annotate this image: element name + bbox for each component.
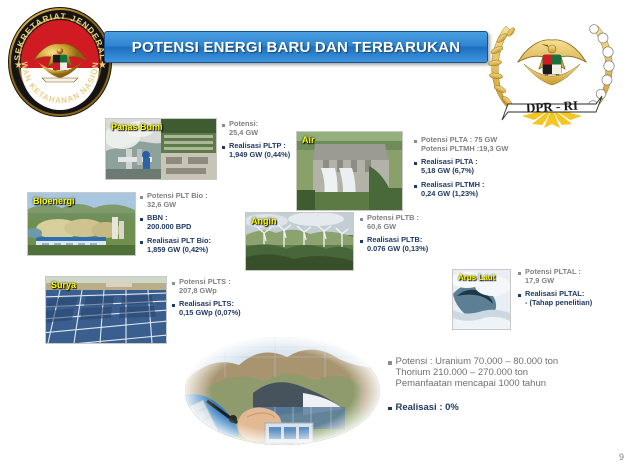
bullet-text: Potensi PLT Bio : 32,6 GW xyxy=(147,192,208,209)
bullet-item: Potensi PLTAL : 17,9 GW xyxy=(518,268,626,285)
photo-caption-panas-bumi: Panas Bumi xyxy=(111,122,163,132)
photo-caption-surya: Surya xyxy=(51,280,76,290)
photo-surya: Surya xyxy=(45,276,167,344)
bullet-marker-icon xyxy=(360,218,363,221)
paddy-wreath-icon xyxy=(488,26,516,112)
bullet-marker-icon xyxy=(222,124,225,127)
bullet-item: Potensi PLTS : 207,8 GWp xyxy=(172,278,272,295)
text-block-surya: Potensi PLTS : 207,8 GWp Realisasi PLTS:… xyxy=(172,278,272,323)
photo-angin: Angin xyxy=(245,212,354,271)
bullet-marker-icon xyxy=(222,146,225,149)
bullet-item: Potensi PLTB : 60,6 GW xyxy=(360,214,460,231)
bullet-marker-icon xyxy=(140,196,143,199)
dpr-ri-logo: DPR - RI xyxy=(474,8,630,132)
bullet-text: Realisasi PLTB: 0.076 GW (0,13%) xyxy=(367,236,428,253)
bullet-marker-icon xyxy=(140,241,143,244)
photo-caption-air: Air xyxy=(302,135,315,145)
photo-caption-angin: Angin xyxy=(251,216,277,226)
bullet-text: Potensi PLTAL : 17,9 GW xyxy=(525,268,581,285)
bullet-item: Realisasi PLT Bio: 1,859 GW (0,42%) xyxy=(140,237,240,254)
bullet-item: Realisasi PLTB: 0.076 GW (0,13%) xyxy=(360,236,460,253)
photo-bioenergi: Bioenergi xyxy=(27,192,136,256)
bullet-text: Potensi PLTB : 60,6 GW xyxy=(367,214,419,231)
page-title: POTENSI ENERGI BARU DAN TERBARUKAN xyxy=(132,39,460,56)
bullet-item: BBN : 200.000 BPD xyxy=(140,214,240,231)
bullet-text: Realisasi : 0% xyxy=(396,402,459,413)
bullet-marker-icon xyxy=(360,240,363,243)
bullet-text: Realisasi PLTP : 1,949 GW (0,44%) xyxy=(229,142,290,159)
bullet-text: Realisasi PLTAL: - (Tahap penelitian) xyxy=(525,290,592,307)
bullet-item: Realisasi PLTMH : 0,24 GW (1,23%) xyxy=(414,181,524,198)
text-block-air: Potensi PLTA : 75 GW Potensi PLTMH :19,3… xyxy=(414,136,524,203)
photo-panas-bumi: Panas Bumi xyxy=(105,118,217,180)
text-block-angin: Potensi PLTB : 60,6 GW Realisasi PLTB: 0… xyxy=(360,214,460,259)
photo-arus-laut: Arus Laut xyxy=(452,269,511,330)
bullet-item: Realisasi : 0% xyxy=(388,402,628,413)
text-block-tenaga-nuklir: Potensi : Uranium 70.000 – 80.000 ton Th… xyxy=(388,356,628,418)
svg-text:★: ★ xyxy=(14,60,23,71)
bullet-item: Realisasi PLTA : 5,18 GW (6,7%) xyxy=(414,158,524,175)
bullet-item: Potensi PLT Bio : 32,6 GW xyxy=(140,192,240,209)
photo-air: Air xyxy=(296,131,403,211)
page-number: 9 xyxy=(619,452,624,462)
bullet-marker-icon xyxy=(414,140,417,143)
garuda-icon xyxy=(518,40,586,85)
photo-tenaga-nuklir: Tenaga Nuklir xyxy=(185,337,380,445)
slide-title-banner: POTENSI ENERGI BARU DAN TERBARUKAN xyxy=(104,31,488,63)
bullet-marker-icon xyxy=(414,185,417,188)
photo-caption-bioenergi: Bioenergi xyxy=(33,196,75,206)
bullet-marker-icon xyxy=(172,304,175,307)
bullet-text: Realisasi PLTA : 5,18 GW (6,7%) xyxy=(421,158,478,175)
bullet-marker-icon xyxy=(518,294,521,297)
bullet-text: Potensi PLTS : 207,8 GWp xyxy=(179,278,231,295)
bullet-marker-icon xyxy=(140,218,143,221)
bullet-item: Potensi : Uranium 70.000 – 80.000 ton Th… xyxy=(388,356,628,390)
bullet-marker-icon xyxy=(414,162,417,165)
bullet-text: Realisasi PLTS: 0,15 GWp (0,07%) xyxy=(179,300,241,317)
seal-sekretariat-jenderal-logo: SEKRETARIAT JENDERAL DEWAN KETAHANAN NAS… xyxy=(6,6,114,118)
cotton-branch-icon xyxy=(589,25,615,112)
dpr-ri-banner-text: DPR - RI xyxy=(526,98,579,116)
bullet-marker-icon xyxy=(388,407,392,411)
bullet-text: BBN : 200.000 BPD xyxy=(147,214,191,231)
bullet-marker-icon xyxy=(388,361,392,365)
bullet-item: Realisasi PLTS: 0,15 GWp (0,07%) xyxy=(172,300,272,317)
bullet-text: Potensi: 25,4 GW xyxy=(229,120,258,137)
bullet-text: Realisasi PLTMH : 0,24 GW (1,23%) xyxy=(421,181,485,198)
bullet-item: Realisasi PLTAL: - (Tahap penelitian) xyxy=(518,290,626,307)
text-block-bioenergi: Potensi PLT Bio : 32,6 GW BBN : 200.000 … xyxy=(140,192,240,259)
bullet-text: Potensi PLTA : 75 GW Potensi PLTMH :19,3… xyxy=(421,136,508,153)
photo-caption-arus-laut: Arus Laut xyxy=(458,273,495,282)
bullet-item: Potensi PLTA : 75 GW Potensi PLTMH :19,3… xyxy=(414,136,524,153)
bullet-marker-icon xyxy=(518,272,521,275)
bullet-text: Potensi : Uranium 70.000 – 80.000 ton Th… xyxy=(396,356,559,390)
slide-canvas: SEKRETARIAT JENDERAL DEWAN KETAHANAN NAS… xyxy=(0,0,638,472)
bullet-marker-icon xyxy=(172,282,175,285)
bullet-text: Realisasi PLT Bio: 1,859 GW (0,42%) xyxy=(147,237,211,254)
text-block-arus-laut: Potensi PLTAL : 17,9 GW Realisasi PLTAL:… xyxy=(518,268,626,313)
